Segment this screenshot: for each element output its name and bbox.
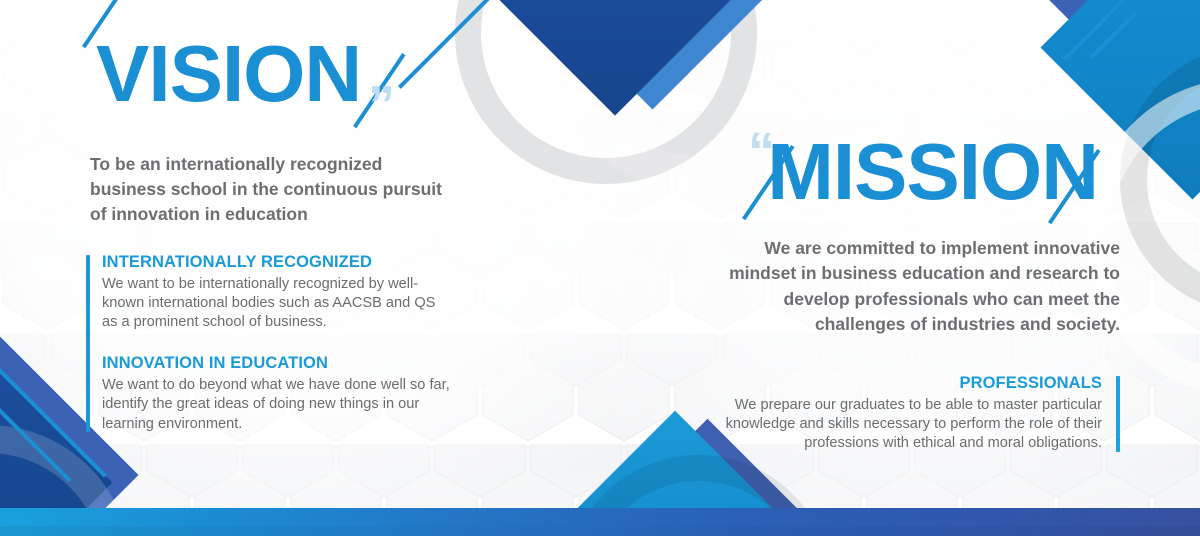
bottom-accent-bar-shade [0, 526, 1200, 536]
vision-subsection-body-0: We want to be internationally recognized… [102, 275, 450, 333]
vision-subsection-heading-0: INTERNATIONALLY RECOGNIZED [102, 253, 502, 272]
decorative-square-topright-navy [1047, 0, 1200, 128]
decorative-diagonal-bottomleft-2 [0, 384, 71, 482]
decorative-diagonal-topright-1 [1063, 0, 1126, 61]
decorative-square-top-mid [459, 0, 770, 116]
vision-statement: To be an internationally recognized busi… [90, 152, 442, 227]
mission-subsection-body-0: We prepare our graduates to be able to m… [700, 396, 1102, 454]
mission-panel: MISSION We are committed to implement in… [700, 132, 1120, 454]
vision-title: VISION [72, 34, 502, 114]
vision-subsection-list: INTERNATIONALLY RECOGNIZED We want to be… [86, 253, 502, 434]
vision-title-wrap: VISION [72, 34, 502, 118]
decorative-ring-topright [1120, 45, 1200, 314]
mission-subsection-list: PROFESSIONALS We prepare our graduates t… [700, 374, 1120, 454]
decorative-square-top-light [500, 0, 804, 110]
mission-statement: We are committed to implement innovative… [700, 236, 1120, 338]
subsection-spacer [102, 333, 502, 354]
mission-subsection-heading-0: PROFESSIONALS [700, 374, 1102, 393]
vision-mission-banner: VISION To be an internationally recogniz… [0, 0, 1200, 536]
vision-subsection-heading-1: INNOVATION IN EDUCATION [102, 354, 502, 373]
vision-subsection-body-1: We want to do beyond what we have done w… [102, 376, 450, 434]
decorative-diagonal-topright-2 [1090, 11, 1138, 59]
vision-panel: VISION To be an internationally recogniz… [72, 34, 502, 434]
